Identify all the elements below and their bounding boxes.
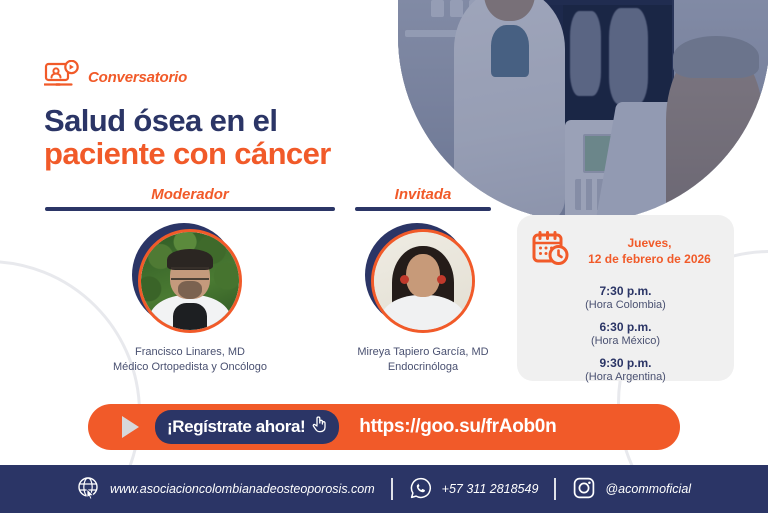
avatar-glasses — [171, 267, 208, 280]
schedule-date: Jueves, 12 de febrero de 2026 — [579, 236, 720, 267]
speaker-credentials: Médico Ortopedista y Oncólogo — [45, 360, 335, 375]
speaker-name: Mireya Tapiero García, MD — [355, 345, 491, 360]
schedule-time-item: 9:30 p.m. (Hora Argentina) — [517, 356, 734, 385]
speaker-info: Francisco Linares, MD Médico Ortopedista… — [45, 345, 335, 375]
speaker-info: Mireya Tapiero García, MD Endocrinóloga — [355, 345, 491, 375]
speaker-guest: Invitada Mireya Tapiero García, MD — [355, 186, 491, 375]
speaker-avatar — [138, 229, 242, 333]
register-cta-bar[interactable]: ¡Regístrate ahora! https://goo.su/frAob0… — [88, 404, 680, 450]
avatar-dark-shirt — [173, 303, 206, 330]
webinar-laptop-icon — [44, 60, 80, 95]
schedule-time-value: 7:30 p.m. — [517, 284, 734, 299]
avatar-beard — [178, 281, 202, 299]
avatar-ring — [138, 229, 242, 333]
schedule-date-row: Jueves, 12 de febrero de 2026 — [517, 215, 734, 274]
schedule-time-zone: (Hora Colombia) — [517, 299, 734, 313]
speaker-moderator: Moderador Francisco Lina — [45, 186, 335, 375]
footer-website-text: www.asociacioncolombianadeosteoporosis.c… — [110, 482, 375, 496]
avatar-photo-guest — [374, 232, 472, 330]
calendar-clock-icon — [531, 229, 571, 274]
schedule-time-value: 6:30 p.m. — [517, 320, 734, 335]
whatsapp-icon — [409, 476, 433, 503]
page-title-line-2: paciente con cáncer — [44, 136, 331, 172]
schedule-time-item: 6:30 p.m. (Hora México) — [517, 320, 734, 349]
footer-divider — [554, 478, 556, 500]
footer-phone[interactable]: +57 311 2818549 — [409, 476, 539, 503]
schedule-weekday: Jueves, — [627, 236, 671, 250]
schedule-time-zone: (Hora México) — [517, 335, 734, 349]
speaker-credentials: Endocrinóloga — [355, 360, 491, 375]
speaker-divider — [45, 207, 335, 211]
speaker-name: Francisco Linares, MD — [45, 345, 335, 360]
schedule-time-item: 7:30 p.m. (Hora Colombia) — [517, 284, 734, 313]
schedule-time-value: 9:30 p.m. — [517, 356, 734, 371]
instagram-icon — [572, 476, 596, 503]
avatar-ring — [371, 229, 475, 333]
schedule-date-full: 12 de febrero de 2026 — [588, 252, 711, 266]
avatar-face — [406, 254, 439, 297]
speaker-avatar — [371, 229, 475, 333]
schedule-times: 7:30 p.m. (Hora Colombia) 6:30 p.m. (Hor… — [517, 284, 734, 384]
eyebrow-label: Conversatorio — [88, 69, 187, 86]
register-url[interactable]: https://goo.su/frAob0n — [359, 416, 556, 438]
footer-divider — [391, 478, 393, 500]
page-title-line-1: Salud ósea en el — [44, 103, 277, 139]
avatar-earring — [437, 275, 446, 284]
footer-instagram[interactable]: @acommoficial — [572, 476, 691, 503]
speaker-divider — [355, 207, 491, 211]
play-triangle-icon — [122, 416, 139, 438]
footer-website[interactable]: www.asociacioncolombianadeosteoporosis.c… — [77, 476, 375, 503]
speaker-role-label: Moderador — [45, 186, 335, 203]
footer-phone-text: +57 311 2818549 — [442, 482, 539, 496]
footer-bar: www.asociacioncolombianadeosteoporosis.c… — [0, 465, 768, 513]
poster-root: Conversatorio Salud ósea en el paciente … — [0, 0, 768, 513]
footer-instagram-text: @acommoficial — [605, 482, 691, 496]
speaker-role-label: Invitada — [355, 186, 491, 203]
globe-cursor-icon — [77, 476, 101, 503]
pointing-hand-icon — [311, 415, 327, 438]
register-button[interactable]: ¡Regístrate ahora! — [155, 410, 339, 444]
eyebrow-badge: Conversatorio — [44, 60, 187, 95]
avatar-photo-moderator — [141, 232, 239, 330]
register-button-label: ¡Regístrate ahora! — [167, 417, 305, 437]
schedule-time-zone: (Hora Argentina) — [517, 371, 734, 385]
schedule-card: Jueves, 12 de febrero de 2026 7:30 p.m. … — [517, 215, 734, 381]
